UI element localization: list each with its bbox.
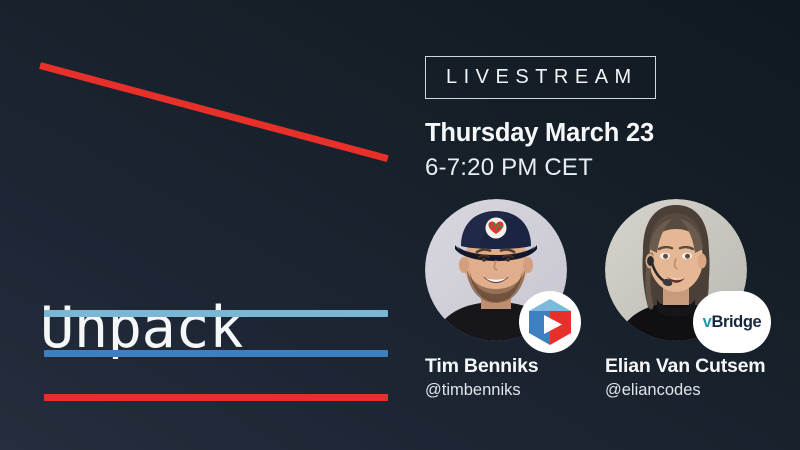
status-badge: LIVESTREAM [425, 56, 656, 99]
speaker-handle: @timbenniks [425, 381, 567, 400]
speaker-handle: @eliancodes [605, 381, 747, 400]
uniform-cube-logo-icon [519, 291, 581, 353]
event-date: Thursday March 23 [425, 119, 785, 148]
event-info-column: LIVESTREAM Thursday March 23 6-7:20 PM C… [425, 56, 785, 182]
divider-blue [44, 350, 388, 357]
vbridge-logo-text: Bridge [711, 313, 761, 331]
avatar-wrapper: vBridge [605, 199, 747, 341]
page-title: Unpack the stack [40, 148, 363, 450]
speaker-name: Tim Benniks [425, 355, 567, 378]
speaker-name: Elian Van Cutsem [605, 355, 747, 378]
divider-red [44, 394, 388, 401]
list-item: vBridge Elian Van Cutsem @eliancodes [605, 199, 747, 400]
vbridge-logo-icon: vBridge [693, 291, 771, 353]
list-item: Tim Benniks @timbenniks [425, 199, 567, 400]
avatar-wrapper [425, 199, 567, 341]
divider-light-blue [44, 310, 388, 317]
livestream-promo-graphic: Unpack the stack LIVESTREAM Thursday Mar… [0, 0, 800, 450]
event-time: 6-7:20 PM CET [425, 154, 785, 182]
